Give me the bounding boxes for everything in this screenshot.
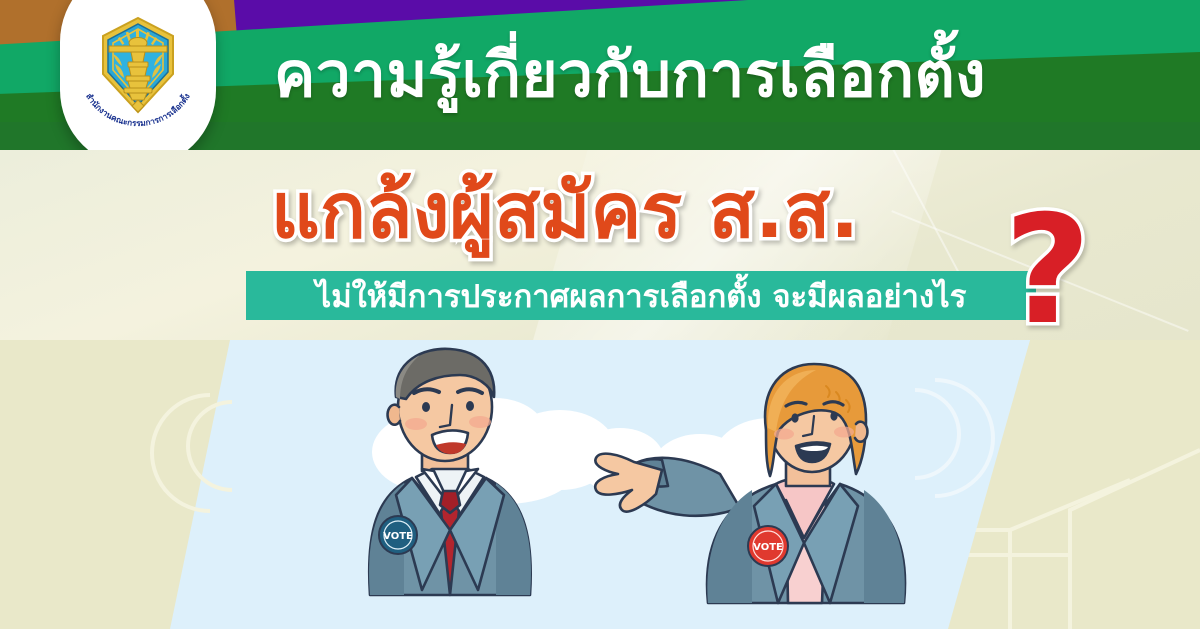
svg-text:VOTE: VOTE (753, 542, 783, 553)
logo-badge: สำนักงานคณะกรรมการการเลือกตั้ง (60, 0, 216, 168)
subtitle-text: ไม่ให้มีการประกาศผลการเลือกตั้ง จะมีผลอย… (246, 271, 1036, 320)
logo-inner: สำนักงานคณะกรรมการการเลือกตั้ง (60, 8, 216, 158)
vote-badge-right: VOTE (748, 526, 788, 566)
female-candidate-figure: VOTE (590, 358, 930, 608)
svg-text:VOTE: VOTE (383, 531, 413, 542)
illustration-scene: VOTE (0, 340, 1200, 629)
poster-canvas: ความรู้เกี่ยวกับการเลือกตั้ง สำนักงานคณะ… (0, 0, 1200, 629)
subtitle-bar: ไม่ให้มีการประกาศผลการเลือกตั้ง จะมีผลอย… (246, 271, 1036, 320)
male-candidate-figure: VOTE (300, 345, 600, 605)
vote-badge-left: VOTE (379, 516, 417, 554)
question-mark-icon: ? (1004, 196, 1091, 346)
royal-seal-icon (93, 16, 183, 114)
